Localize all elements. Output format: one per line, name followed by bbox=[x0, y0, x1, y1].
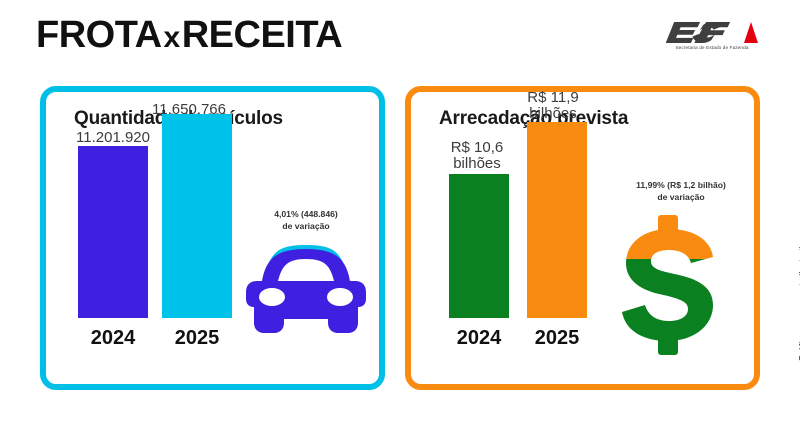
bar-year-2025-frota: 2025 bbox=[162, 327, 232, 350]
variation-line2: de variação bbox=[601, 192, 761, 204]
bar-2025-frota bbox=[162, 114, 232, 318]
page-title-separator: x bbox=[162, 21, 182, 54]
bar-chart-receita: R$ 10,6 bilhões 2024 R$ 11,9 bilhões 202… bbox=[411, 92, 754, 384]
car-icon bbox=[242, 237, 370, 341]
page-title: FROTAxRECEITA bbox=[36, 14, 342, 57]
panel-quantidade-de-veiculos: Quantidade de veículos 11.201.920 2024 1… bbox=[40, 86, 385, 390]
bar-value-line1: 11.201.920 bbox=[76, 129, 150, 146]
bar-2024-receita bbox=[449, 174, 509, 318]
variation-note-frota: 4,01% (448.846) de variação bbox=[236, 209, 376, 232]
dollar-icon bbox=[617, 215, 721, 355]
bar-value-2024-receita: R$ 10,6 bilhões bbox=[429, 140, 525, 172]
bar-value-line2: bilhões bbox=[505, 106, 601, 122]
bar-year-2024-frota: 2024 bbox=[78, 327, 148, 350]
page-title-part1: FROTA bbox=[36, 14, 162, 56]
brand-logo: Secretaria de Estado de Fazenda bbox=[664, 18, 760, 50]
bar-2025-receita bbox=[527, 122, 587, 318]
bar-value-line1: R$ 11,9 bbox=[505, 90, 601, 106]
bar-value-line2: bilhões bbox=[429, 156, 525, 172]
bar-value-2024-frota: 11.201.920 bbox=[58, 130, 168, 146]
variation-note-receita: 11,99% (R$ 1,2 bilhão) de variação bbox=[601, 180, 761, 203]
variation-line1: 4,01% (448.846) bbox=[236, 209, 376, 221]
variation-line2: de variação bbox=[236, 221, 376, 233]
bar-year-2024-receita: 2024 bbox=[443, 327, 515, 350]
bar-value-2025-receita: R$ 11,9 bilhões bbox=[505, 90, 601, 122]
bar-2024-frota bbox=[78, 146, 148, 318]
variation-line1: 11,99% (R$ 1,2 bilhão) bbox=[601, 180, 761, 192]
bar-value-line1: R$ 10,6 bbox=[429, 140, 525, 156]
page-title-part2: RECEITA bbox=[182, 14, 342, 56]
bar-chart-frota: 11.201.920 2024 11.650.766 2025 4,01% (4… bbox=[46, 92, 379, 384]
bar-year-2025-receita: 2025 bbox=[521, 327, 593, 350]
logo-tagline: Secretaria de Estado de Fazenda bbox=[664, 45, 760, 50]
panel-arrecadacao-prevista: Arrecadação prevista R$ 10,6 bilhões 202… bbox=[405, 86, 760, 390]
sef-logo-icon bbox=[664, 18, 760, 44]
